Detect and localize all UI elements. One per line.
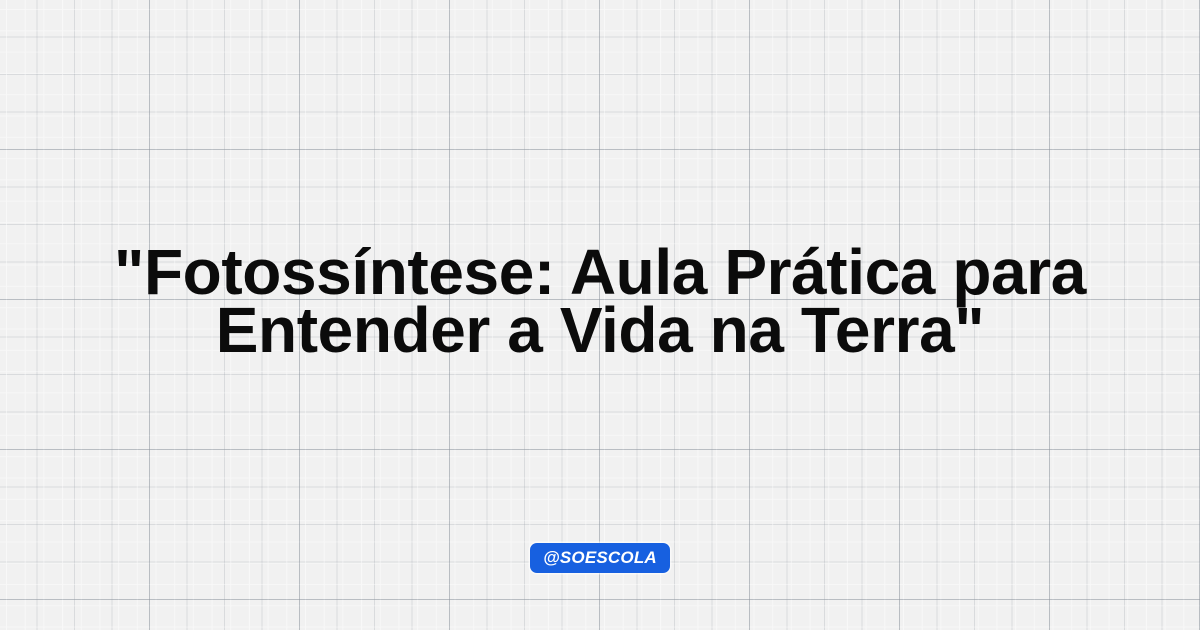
social-card-canvas: "Fotossíntese: Aula Prática para Entende… bbox=[0, 0, 1200, 630]
watermark-row: @SOESCOLA bbox=[0, 543, 1200, 573]
title-block: "Fotossíntese: Aula Prática para Entende… bbox=[0, 243, 1200, 359]
page-title: "Fotossíntese: Aula Prática para Entende… bbox=[60, 243, 1140, 359]
brand-handle-badge[interactable]: @SOESCOLA bbox=[530, 543, 670, 573]
